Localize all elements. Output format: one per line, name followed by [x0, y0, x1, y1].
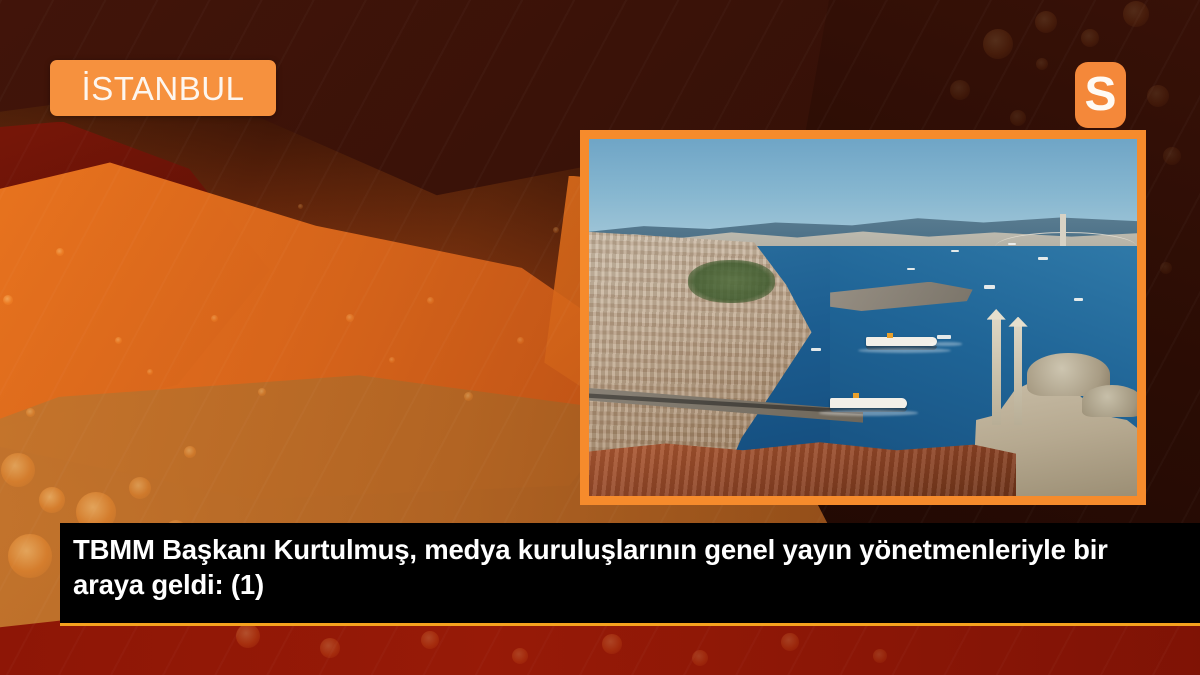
photo-boat — [951, 250, 959, 252]
photo-boat — [984, 285, 995, 288]
photo-minaret-right — [1014, 325, 1023, 425]
brand-logo-letter: S — [1084, 71, 1116, 119]
photo-ferry — [830, 398, 907, 409]
photo-wake — [929, 342, 962, 345]
photo-boat — [907, 268, 915, 270]
photo-boat — [937, 335, 951, 339]
photo-boat — [811, 348, 821, 351]
news-card: İSTANBUL S — [0, 0, 1200, 675]
photo-mosque-secondary-dome — [1082, 385, 1137, 417]
city-badge-label: İSTANBUL — [82, 72, 245, 105]
photo-ferry — [866, 337, 937, 346]
photo-frame — [580, 130, 1146, 505]
photo-boat — [1038, 257, 1048, 260]
photo-boat — [1074, 298, 1083, 301]
photo-wake — [858, 348, 951, 353]
photo-boat — [1008, 243, 1016, 245]
photo-green-park — [688, 260, 776, 303]
caption-bar: TBMM Başkanı Kurtulmuş, medya kuruluşlar… — [60, 523, 1200, 626]
brand-logo-icon[interactable]: S — [1075, 62, 1126, 128]
istanbul-photo — [589, 139, 1137, 496]
photo-roofs-texture — [589, 439, 1016, 496]
photo-minaret-left — [992, 318, 1001, 425]
headline-text: TBMM Başkanı Kurtulmuş, medya kuruluşlar… — [73, 532, 1153, 602]
photo-wake — [819, 410, 918, 416]
city-badge: İSTANBUL — [50, 60, 276, 116]
